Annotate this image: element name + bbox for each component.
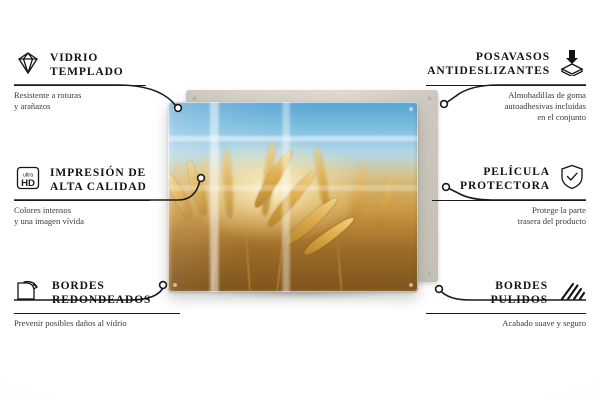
feature-subtitle: Almohadillas de goma autoadhesivas inclu… (426, 90, 586, 123)
tempered-glass-panel (168, 102, 418, 292)
feature-title: VIDRIO TEMPLADO (50, 52, 124, 79)
feature-rule (14, 85, 146, 86)
feature-subtitle: Protege la parte trasera del producto (432, 205, 586, 227)
feature-rule (14, 313, 180, 314)
glass-corner-pad (409, 283, 413, 287)
feature-impresion-alta-calidad: ultra HD IMPRESIÓN DE ALTA CALIDAD Color… (14, 165, 164, 227)
glass-corner-pad (409, 107, 413, 111)
wheat-field-photo (168, 102, 418, 292)
feature-vidrio-templado: VIDRIO TEMPLADO Resistente a roturas y a… (14, 50, 160, 112)
feature-title: PELÍCULA PROTECTORA (460, 166, 550, 193)
hd-label: HD (21, 178, 35, 189)
product-image (168, 90, 438, 295)
feature-title: POSAVASOS ANTIDESLIZANTES (427, 51, 550, 78)
product-infographic: VIDRIO TEMPLADO Resistente a roturas y a… (0, 0, 600, 400)
feature-posavasos-antideslizantes: POSAVASOS ANTIDESLIZANTES Almohadillas d… (426, 48, 586, 123)
feature-title: BORDES REDONDEADOS (52, 280, 151, 307)
press-pad-icon (558, 48, 586, 81)
feature-rule (426, 313, 586, 314)
feature-title: BORDES PULIDOS (491, 280, 548, 307)
backing-pad (192, 96, 197, 101)
feature-title: IMPRESIÓN DE ALTA CALIDAD (50, 167, 147, 194)
feature-rule (426, 85, 586, 86)
feature-rule (432, 200, 586, 201)
ultra-hd-badge-icon: ultra HD (14, 165, 42, 196)
feature-bordes-redondeados: BORDES REDONDEADOS Prevenir posibles dañ… (14, 278, 180, 329)
feature-subtitle: Acabado suave y seguro (426, 318, 586, 329)
shield-check-icon (558, 163, 586, 196)
feature-bordes-pulidos: BORDES PULIDOS Acabado suave y seguro (426, 278, 586, 329)
feature-pelicula-protectora: PELÍCULA PROTECTORA Protege la parte tra… (432, 163, 586, 227)
glass-corner-pad (173, 107, 177, 111)
diamond-icon (14, 50, 42, 81)
diagonal-lines-icon (556, 278, 586, 309)
feature-subtitle: Colores intensos y una imagen vívida (14, 205, 164, 227)
feature-rule (14, 200, 150, 201)
feature-subtitle: Prevenir posibles daños al vidrio (14, 318, 180, 329)
feature-subtitle: Resistente a roturas y arañazos (14, 90, 160, 112)
backing-pad (427, 271, 432, 276)
rounded-corner-icon (14, 278, 44, 309)
